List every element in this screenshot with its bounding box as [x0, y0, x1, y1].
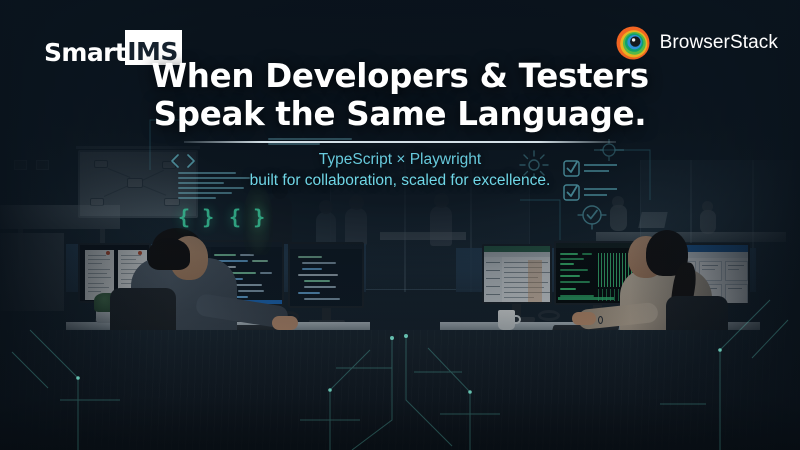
- headline-line-2: Speak the Same Language.: [151, 95, 649, 133]
- page-title: When Developers & Testers Speak the Same…: [151, 57, 649, 133]
- subtitle-line-1: TypeScript × Playwright: [250, 150, 551, 171]
- curly-braces-icon: { }: [229, 205, 265, 229]
- subtitle: TypeScript × Playwright built for collab…: [250, 150, 551, 192]
- banner: { } { }: [0, 0, 800, 450]
- shield-check-icon: [575, 200, 609, 230]
- smartims-logo-text-smart: Smart: [44, 40, 126, 65]
- curly-braces-icon: { }: [178, 205, 214, 229]
- headline-line-1: When Developers & Testers: [151, 57, 649, 95]
- checklist-icon: [563, 158, 619, 204]
- subtitle-line-2: built for collaboration, scaled for exce…: [250, 171, 551, 192]
- browserstack-logo-text: BrowserStack: [660, 32, 778, 54]
- browserstack-logo[interactable]: BrowserStack: [616, 26, 778, 60]
- browserstack-eye-icon: [616, 26, 650, 60]
- code-snippet-overlay-top: [268, 138, 364, 148]
- code-tag-icon: [170, 152, 196, 170]
- divider: [184, 141, 616, 143]
